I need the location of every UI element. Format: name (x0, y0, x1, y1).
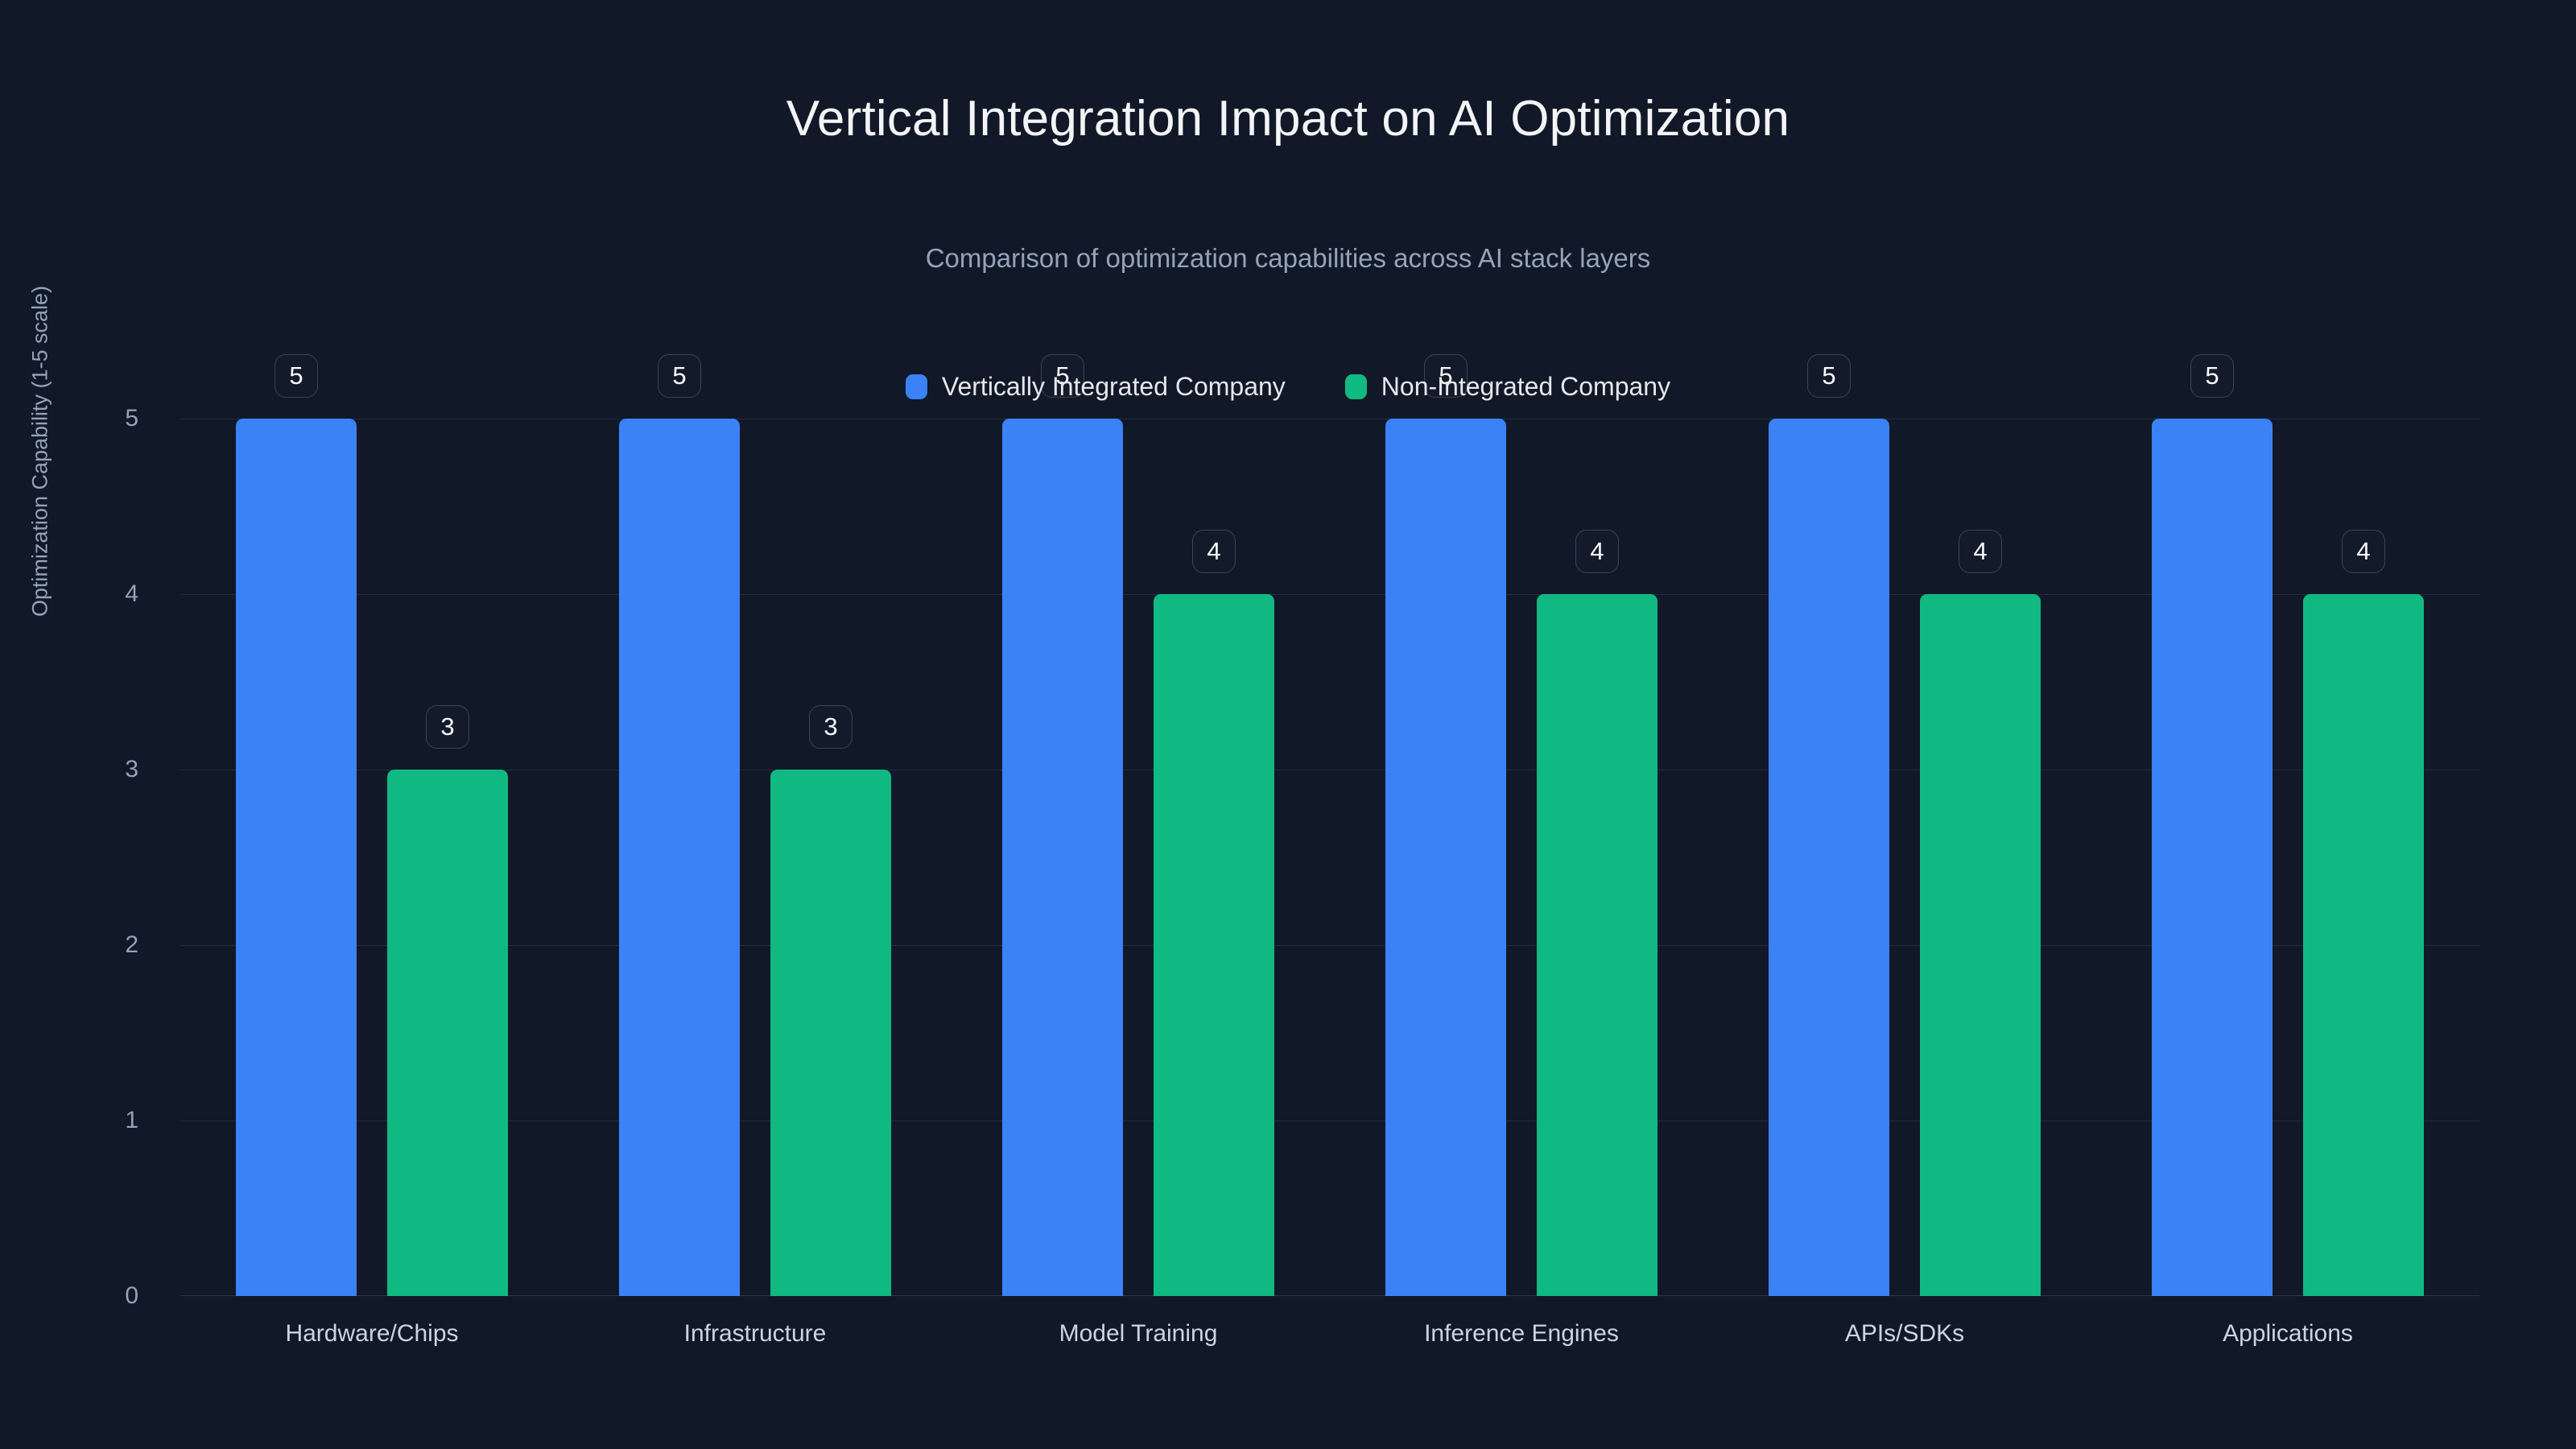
bar-value-label: 5 (1041, 354, 1084, 398)
chart-canvas: Vertical Integration Impact on AI Optimi… (0, 0, 2576, 1449)
bar[interactable]: 5 (1769, 419, 1889, 1296)
bar-group: 54 (1713, 419, 2096, 1296)
x-axis-tick-labels: Hardware/ChipsInfrastructureModel Traini… (180, 1320, 2479, 1368)
chart-title: Vertical Integration Impact on AI Optimi… (0, 90, 2576, 147)
bar[interactable]: 5 (236, 419, 357, 1296)
bar-value-label: 4 (1192, 530, 1236, 573)
bar[interactable]: 3 (770, 770, 891, 1296)
bar-group: 53 (563, 419, 947, 1296)
y-tick-label: 0 (42, 1282, 138, 1310)
legend-item[interactable]: Non-Integrated Company (1345, 372, 1670, 402)
bar-value-label: 3 (809, 705, 852, 749)
y-tick-label: 4 (42, 580, 138, 608)
x-tick-label: Model Training (947, 1320, 1330, 1368)
x-tick-label: Infrastructure (563, 1320, 947, 1368)
square-swatch-icon (906, 374, 927, 399)
bar-group: 53 (180, 419, 563, 1296)
chart-legend: Vertically Integrated CompanyNon-Integra… (0, 372, 2576, 402)
bar-value-label: 4 (1959, 530, 2002, 573)
y-tick-label: 2 (42, 931, 138, 959)
bar-group: 54 (947, 419, 1330, 1296)
bar[interactable]: 5 (1002, 419, 1123, 1296)
bar-value-label: 5 (658, 354, 701, 398)
bar[interactable]: 5 (619, 419, 740, 1296)
bar-value-label: 5 (1807, 354, 1851, 398)
y-axis-tick-labels: 543210 (42, 419, 138, 1296)
bar[interactable]: 5 (1385, 419, 1506, 1296)
x-tick-label: Hardware/Chips (180, 1320, 563, 1368)
legend-label: Vertically Integrated Company (942, 372, 1286, 402)
bar-value-label: 5 (2190, 354, 2234, 398)
bar-value-label: 4 (1575, 530, 1619, 573)
bar[interactable]: 4 (1537, 594, 1657, 1296)
bar[interactable]: 4 (1154, 594, 1274, 1296)
y-tick-label: 3 (42, 756, 138, 783)
bar-value-label: 5 (275, 354, 318, 398)
x-tick-label: APIs/SDKs (1713, 1320, 2096, 1368)
y-tick-label: 1 (42, 1107, 138, 1134)
bar[interactable]: 4 (2303, 594, 2424, 1296)
legend-item[interactable]: Vertically Integrated Company (906, 372, 1286, 402)
square-swatch-icon (1345, 374, 1367, 399)
bar-group: 54 (1330, 419, 1713, 1296)
chart-subtitle: Comparison of optimization capabilities … (0, 243, 2576, 274)
bar-value-label: 4 (2342, 530, 2385, 573)
bar-value-label: 5 (1424, 354, 1468, 398)
bar[interactable]: 5 (2152, 419, 2273, 1296)
x-tick-label: Applications (2096, 1320, 2479, 1368)
bar-group: 54 (2096, 419, 2479, 1296)
bar[interactable]: 3 (387, 770, 508, 1296)
bar[interactable]: 4 (1920, 594, 2041, 1296)
bar-groups: 535354545454 (180, 419, 2479, 1296)
y-tick-label: 5 (42, 405, 138, 432)
x-tick-label: Inference Engines (1330, 1320, 1713, 1368)
bar-value-label: 3 (426, 705, 469, 749)
